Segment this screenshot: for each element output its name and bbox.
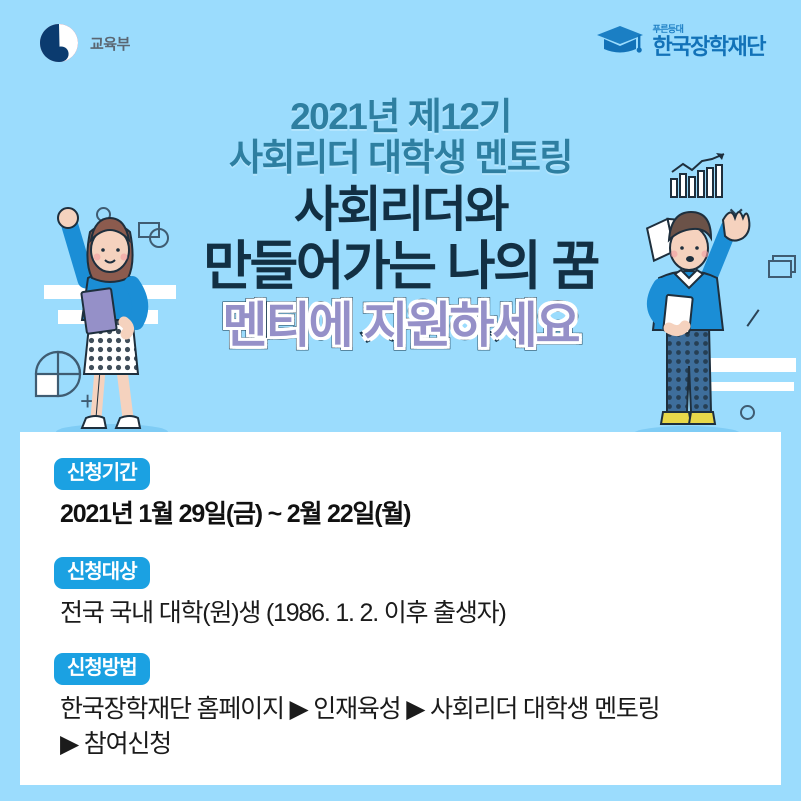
info-section-application-period: 신청기간 2021년 1월 29일(금) ~ 2월 22일(월): [54, 458, 751, 531]
ministry-name-label: 교육부: [90, 33, 130, 54]
title-line-2: 사회리더 대학생 멘토링: [0, 137, 801, 178]
how-to-apply-text-line1: 한국장학재단 홈페이지 ▶ 인재육성 ▶ 사회리더 대학생 멘토링: [60, 693, 751, 726]
graduation-cap-icon: [594, 22, 646, 60]
title-line-3: 사회리더와: [0, 183, 801, 238]
kosaf-wordmark: 푸른등대 한국장학재단: [653, 25, 765, 58]
info-section-eligibility: 신청대상 전국 국내 대학(원)생 (1986. 1. 2. 이후 출생자): [54, 557, 751, 630]
badge-how-to-apply: 신청방법: [54, 653, 150, 685]
korea-government-taegeuk-emblem-icon: [38, 22, 80, 64]
title-line-4: 만들어가는 나의 꿈: [0, 238, 801, 296]
info-card: 신청기간 2021년 1월 29일(금) ~ 2월 22일(월) 신청대상 전국…: [20, 432, 781, 785]
badge-application-period: 신청기간: [54, 458, 150, 490]
poster-root: 교육부 푸른등대 한국장학재단: [0, 0, 801, 801]
how-to-apply-text-line2: ▶ 참여신청: [60, 728, 751, 761]
kosaf-sub-label: 푸른등대: [653, 25, 765, 34]
kosaf-name-label: 한국장학재단: [653, 36, 765, 58]
call-to-action-banner: 멘티에 지원하세요: [0, 300, 801, 354]
eligibility-text: 전국 국내 대학(원)생 (1986. 1. 2. 이후 출생자): [60, 597, 751, 630]
badge-eligibility: 신청대상: [54, 557, 150, 589]
info-section-how-to-apply: 신청방법 한국장학재단 홈페이지 ▶ 인재육성 ▶ 사회리더 대학생 멘토링 ▶…: [54, 653, 751, 760]
application-period-text: 2021년 1월 29일(금) ~ 2월 22일(월): [60, 498, 751, 531]
ministry-of-education-logo: 교육부: [38, 22, 130, 64]
title-block: 2021년 제12기 사회리더 대학생 멘토링 사회리더와 만들어가는 나의 꿈…: [0, 96, 801, 354]
kosaf-logo: 푸른등대 한국장학재단: [594, 22, 765, 60]
logo-header: 교육부 푸른등대 한국장학재단: [0, 0, 801, 90]
title-line-1: 2021년 제12기: [0, 96, 801, 137]
